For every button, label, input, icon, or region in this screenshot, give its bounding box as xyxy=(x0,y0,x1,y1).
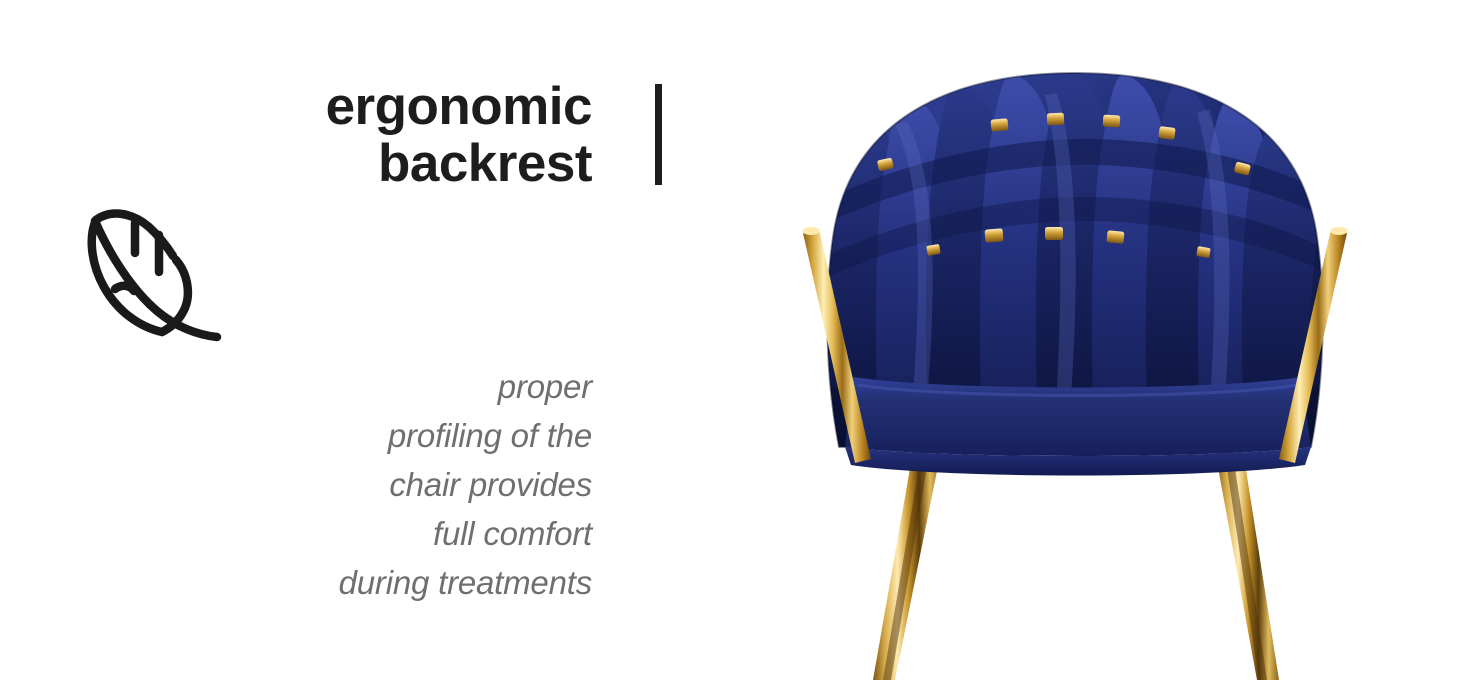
body-copy-line-5: during treatments xyxy=(160,558,592,607)
body-copy-line-3: chair provides xyxy=(160,460,592,509)
chair-seat xyxy=(845,377,1311,476)
headline-line-2: backrest xyxy=(180,135,592,192)
vertical-divider-rule xyxy=(655,84,662,185)
body-copy-line-2: profiling of the xyxy=(160,411,592,460)
feather-icon xyxy=(78,196,238,344)
chair-legs xyxy=(873,451,1279,680)
body-copy-line-4: full comfort xyxy=(160,509,592,558)
promo-banner: ergonomic backrest proper profiling of t… xyxy=(0,0,1460,680)
product-image-chair xyxy=(745,55,1405,680)
headline-line-1: ergonomic xyxy=(180,78,592,135)
body-copy: proper profiling of the chair provides f… xyxy=(160,362,592,607)
body-copy-line-1: proper xyxy=(160,362,592,411)
page-title: ergonomic backrest xyxy=(180,78,592,192)
